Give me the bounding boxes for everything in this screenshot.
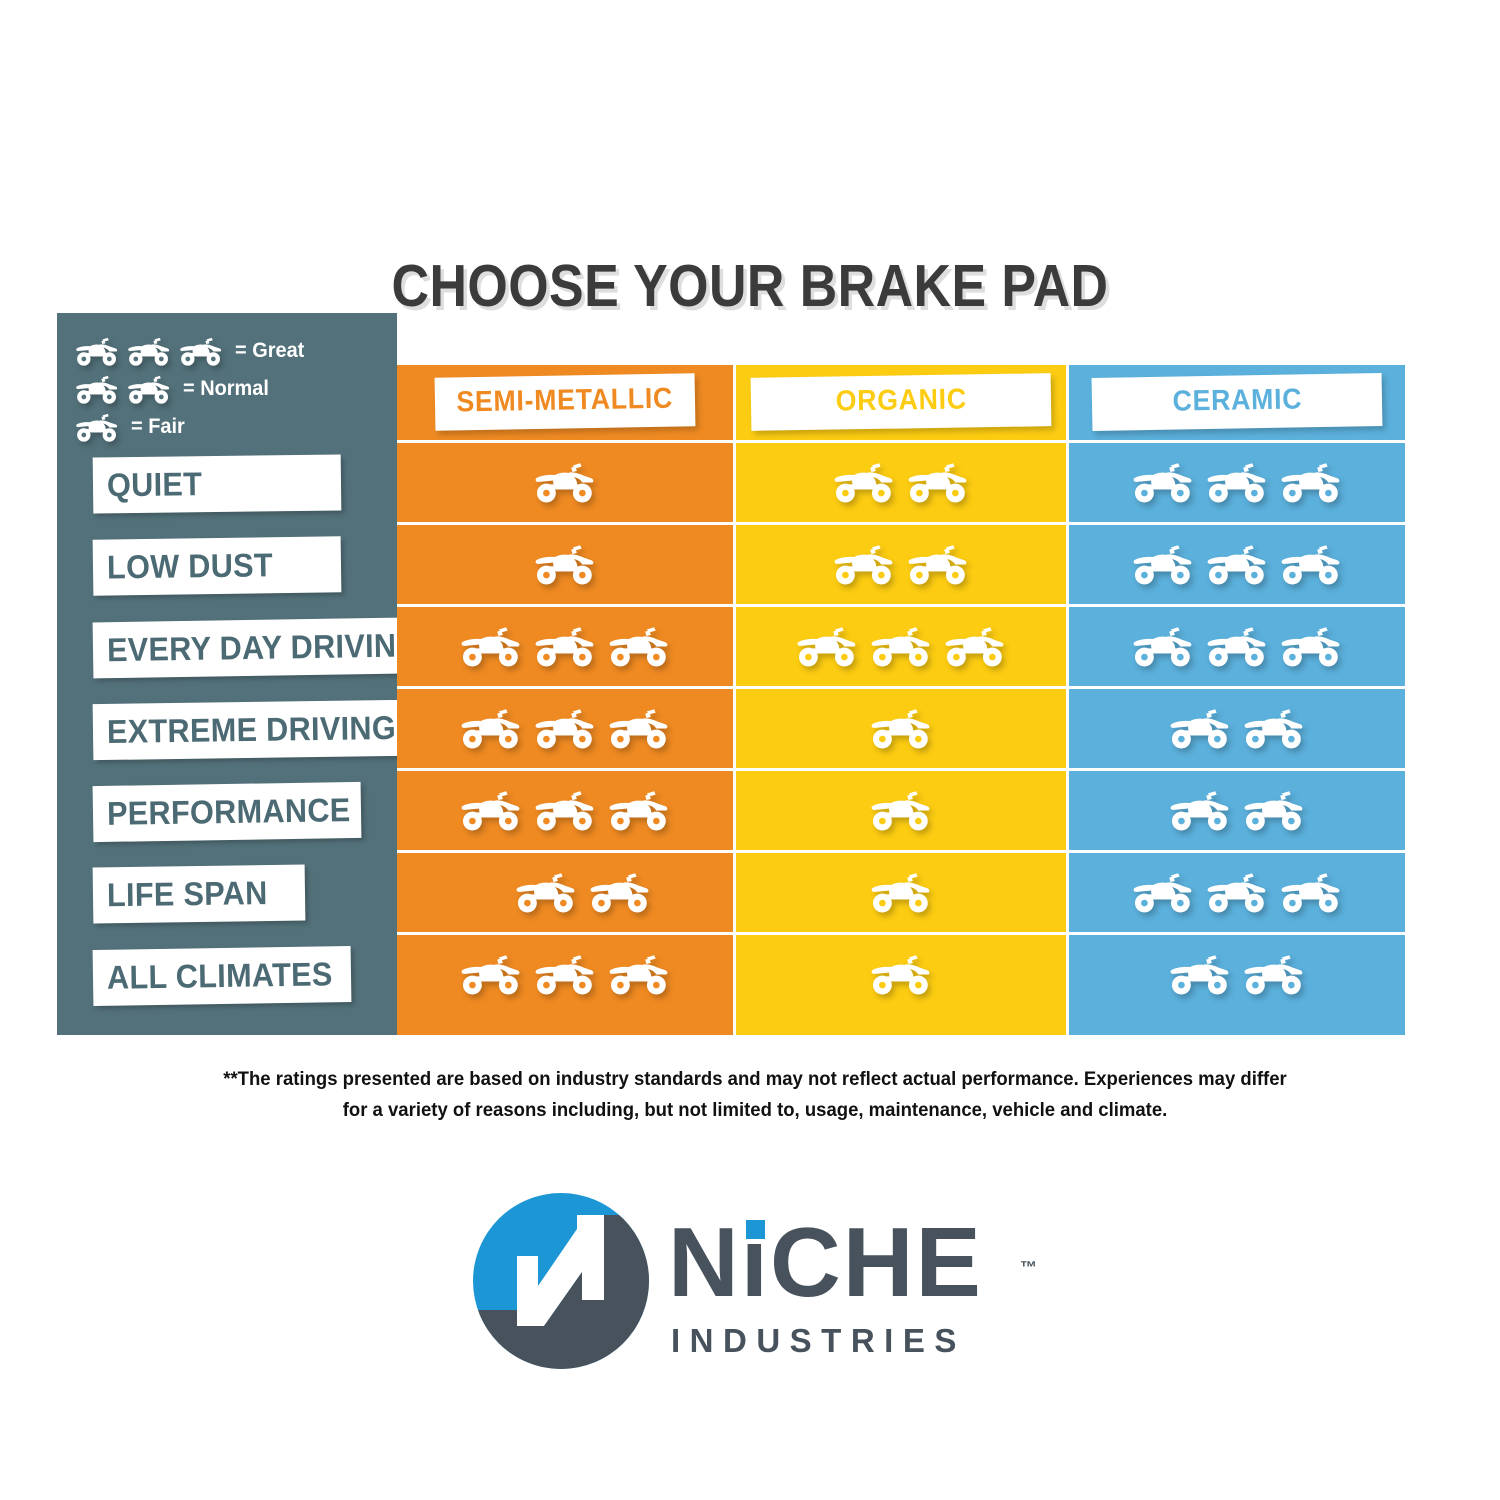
rating-icon-group bbox=[1132, 462, 1342, 503]
atv-icon bbox=[870, 954, 932, 995]
atv-icon bbox=[515, 872, 577, 913]
row-label-text: LIFE SPAN bbox=[107, 874, 268, 914]
rating-icon-group bbox=[460, 626, 670, 667]
logo-name-text: NiCHE bbox=[668, 1207, 983, 1317]
row-label-all-climates: ALL CLIMATES bbox=[93, 946, 352, 1006]
rating-cell bbox=[1069, 525, 1405, 604]
atv-icon bbox=[1169, 708, 1231, 749]
column-header-label: ORGANIC bbox=[835, 383, 967, 418]
disclaimer-text: **The ratings presented are based on ind… bbox=[218, 1064, 1292, 1126]
legend: = Great= Normal= Fair bbox=[57, 313, 397, 433]
column-header-tag: SEMI-METALLIC bbox=[435, 373, 696, 431]
atv-icon bbox=[75, 375, 119, 404]
atv-icon bbox=[1169, 954, 1231, 995]
rating-cell bbox=[397, 853, 733, 932]
atv-icon bbox=[870, 790, 932, 831]
atv-icon bbox=[534, 954, 596, 995]
rating-icon-group bbox=[870, 954, 932, 995]
atv-icon bbox=[608, 708, 670, 749]
atv-icon bbox=[460, 954, 522, 995]
atv-icon bbox=[608, 790, 670, 831]
atv-icon bbox=[870, 708, 932, 749]
rating-icon-group bbox=[1132, 544, 1342, 585]
column-header: ORGANIC bbox=[736, 365, 1066, 439]
atv-icon bbox=[796, 626, 858, 667]
infographic-canvas: CHOOSE YOUR BRAKE PAD = Great= Normal= F… bbox=[0, 0, 1500, 1500]
row-label-quiet: QUIET bbox=[93, 454, 342, 513]
legend-item: = Normal bbox=[75, 371, 273, 407]
rating-icon-group bbox=[460, 954, 670, 995]
row-label-low-dust: LOW DUST bbox=[93, 536, 342, 595]
row-label-text: EXTREME DRIVING bbox=[107, 709, 396, 751]
page-title: CHOOSE YOUR BRAKE PAD bbox=[90, 252, 1410, 320]
atv-icon bbox=[1169, 790, 1231, 831]
atv-icon bbox=[534, 462, 596, 503]
row-label-text: QUIET bbox=[107, 465, 203, 504]
legend-icon-group bbox=[75, 375, 171, 404]
logo-subtitle: INDUSTRIES bbox=[671, 1322, 983, 1360]
rating-cell bbox=[1069, 853, 1405, 932]
atv-icon bbox=[534, 626, 596, 667]
logo-wordmark: NiCHE ™ INDUSTRIES bbox=[668, 1210, 983, 1360]
rating-icon-group bbox=[870, 872, 932, 913]
atv-icon bbox=[179, 337, 223, 366]
atv-icon bbox=[1206, 626, 1268, 667]
rating-icon-group bbox=[1169, 954, 1305, 995]
rating-cell bbox=[397, 771, 733, 850]
sidebar-panel: = Great= Normal= Fair QUIETLOW DUSTEVERY… bbox=[57, 313, 397, 1035]
rating-cell bbox=[1069, 607, 1405, 686]
legend-item-label: = Great bbox=[235, 339, 304, 363]
atv-icon bbox=[1206, 462, 1268, 503]
column-header-label: SEMI-METALLIC bbox=[456, 383, 673, 420]
rating-icon-group bbox=[796, 626, 1006, 667]
row-label-every-day-driving: EVERY DAY DRIVING bbox=[93, 618, 404, 679]
niche-logo-mark-icon bbox=[470, 1190, 652, 1372]
column-header-label: CERAMIC bbox=[1172, 383, 1302, 418]
logo-trademark: ™ bbox=[1020, 1216, 1039, 1320]
atv-icon bbox=[1132, 462, 1194, 503]
rating-icon-group bbox=[833, 544, 969, 585]
rating-cell bbox=[736, 935, 1066, 1014]
atv-icon bbox=[127, 337, 171, 366]
atv-icon bbox=[534, 790, 596, 831]
legend-item: = Fair bbox=[75, 409, 188, 445]
rating-cell bbox=[397, 443, 733, 522]
atv-icon bbox=[1280, 544, 1342, 585]
rating-cell bbox=[1069, 771, 1405, 850]
rating-cell bbox=[1069, 443, 1405, 522]
atv-icon bbox=[127, 375, 171, 404]
column-semi-metallic: SEMI-METALLIC bbox=[397, 365, 733, 1035]
ratings-grid: SEMI-METALLICORGANICCERAMIC bbox=[397, 365, 1405, 1035]
row-label-text: PERFORMANCE bbox=[107, 791, 351, 833]
atv-icon bbox=[608, 626, 670, 667]
atv-icon bbox=[75, 337, 119, 366]
column-header-tag: ORGANIC bbox=[751, 373, 1052, 431]
atv-icon bbox=[1243, 790, 1305, 831]
legend-item-label: = Normal bbox=[183, 377, 269, 401]
brand-logo: NiCHE ™ INDUSTRIES bbox=[470, 1190, 1030, 1380]
atv-icon bbox=[1206, 872, 1268, 913]
atv-icon bbox=[1132, 626, 1194, 667]
rating-icon-group bbox=[515, 872, 651, 913]
rating-cell bbox=[736, 689, 1066, 768]
logo-i-dot-icon bbox=[746, 1220, 765, 1239]
rating-icon-group bbox=[1169, 708, 1305, 749]
atv-icon bbox=[534, 708, 596, 749]
legend-icon-group bbox=[75, 413, 119, 442]
legend-item: = Great bbox=[75, 333, 308, 369]
row-label-text: EVERY DAY DRIVING bbox=[107, 626, 421, 669]
atv-icon bbox=[1206, 544, 1268, 585]
rating-icon-group bbox=[833, 462, 969, 503]
atv-icon bbox=[534, 544, 596, 585]
row-label-performance: PERFORMANCE bbox=[93, 782, 362, 842]
legend-item-label: = Fair bbox=[131, 415, 185, 439]
atv-icon bbox=[870, 872, 932, 913]
atv-icon bbox=[608, 954, 670, 995]
column-header: SEMI-METALLIC bbox=[397, 365, 733, 439]
rating-cell bbox=[397, 525, 733, 604]
atv-icon bbox=[1132, 544, 1194, 585]
rating-icon-group bbox=[1132, 872, 1342, 913]
atv-icon bbox=[460, 708, 522, 749]
atv-icon bbox=[460, 790, 522, 831]
rating-cell bbox=[736, 607, 1066, 686]
rating-cell bbox=[736, 853, 1066, 932]
atv-icon bbox=[870, 626, 932, 667]
atv-icon bbox=[589, 872, 651, 913]
atv-icon bbox=[944, 626, 1006, 667]
atv-icon bbox=[75, 413, 119, 442]
rating-cell bbox=[397, 935, 733, 1014]
row-label-text: ALL CLIMATES bbox=[107, 955, 333, 997]
atv-icon bbox=[1132, 872, 1194, 913]
rating-cell bbox=[397, 689, 733, 768]
column-header-tag: CERAMIC bbox=[1092, 373, 1383, 431]
rating-cell bbox=[736, 771, 1066, 850]
rating-cell bbox=[736, 443, 1066, 522]
atv-icon bbox=[833, 544, 895, 585]
rating-icon-group bbox=[870, 708, 932, 749]
atv-icon bbox=[907, 462, 969, 503]
row-label-text: LOW DUST bbox=[107, 546, 273, 586]
column-ceramic: CERAMIC bbox=[1069, 365, 1405, 1035]
atv-icon bbox=[1280, 872, 1342, 913]
atv-icon bbox=[1280, 626, 1342, 667]
rating-cell bbox=[1069, 935, 1405, 1014]
rating-icon-group bbox=[1132, 626, 1342, 667]
rating-icon-group bbox=[460, 708, 670, 749]
rating-icon-group bbox=[870, 790, 932, 831]
rating-icon-group bbox=[460, 790, 670, 831]
column-organic: ORGANIC bbox=[736, 365, 1066, 1035]
atv-icon bbox=[1243, 708, 1305, 749]
atv-icon bbox=[1280, 462, 1342, 503]
rating-cell bbox=[736, 525, 1066, 604]
logo-name: NiCHE ™ bbox=[668, 1210, 983, 1314]
atv-icon bbox=[907, 544, 969, 585]
rating-cell bbox=[1069, 689, 1405, 768]
column-header: CERAMIC bbox=[1069, 365, 1405, 439]
atv-icon bbox=[1243, 954, 1305, 995]
rating-icon-group bbox=[534, 462, 596, 503]
legend-icon-group bbox=[75, 337, 223, 366]
rating-icon-group bbox=[1169, 790, 1305, 831]
atv-icon bbox=[833, 462, 895, 503]
rating-icon-group bbox=[534, 544, 596, 585]
atv-icon bbox=[460, 626, 522, 667]
row-label-extreme-driving: EXTREME DRIVING bbox=[93, 700, 404, 760]
rating-cell bbox=[397, 607, 733, 686]
row-label-life-span: LIFE SPAN bbox=[93, 865, 306, 924]
